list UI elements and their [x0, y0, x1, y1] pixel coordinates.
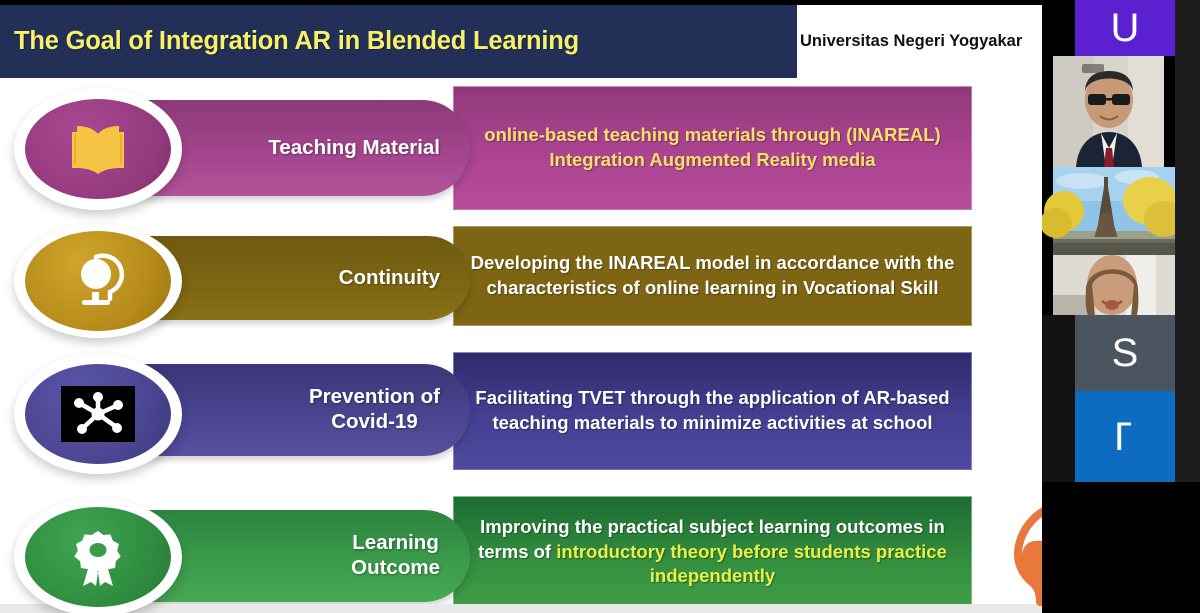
- goal-icon-badge: [14, 354, 182, 474]
- goal-description-text: Improving the practical subject learning…: [464, 515, 961, 589]
- participant-tile-s[interactable]: S: [1042, 315, 1175, 391]
- avatar-initial: S: [1112, 333, 1139, 373]
- goal-row: Improving the practical subject learning…: [0, 496, 1042, 613]
- right-gutter: [1175, 0, 1200, 613]
- globe-icon: [70, 252, 126, 310]
- goal-description-text: online-based teaching materials through …: [464, 123, 961, 172]
- goal-row: Developing the INAREAL model in accordan…: [0, 226, 1042, 336]
- organization-banner: Universitas Negeri Yogyakar: [797, 5, 1042, 78]
- goal-description-box: Improving the practical subject learning…: [453, 496, 972, 608]
- goal-icon-badge: [14, 498, 182, 613]
- goal-label-text: Continuity: [339, 266, 440, 291]
- goal-label-text: Teaching Material: [268, 136, 440, 161]
- participant-tile-u[interactable]: U: [1042, 0, 1175, 56]
- slide-title-bar: The Goal of Integration AR in Blended Le…: [0, 5, 797, 78]
- participant-tile-eiffel[interactable]: [1042, 167, 1175, 255]
- goal-label-text: Learning Outcome: [351, 531, 440, 580]
- tile-u-edge: [1168, 0, 1175, 56]
- participant-tile-man[interactable]: [1042, 56, 1175, 167]
- award-rosette-icon: [69, 527, 127, 587]
- goal-row: Facilitating TVET through the applicatio…: [0, 352, 1042, 480]
- avatar: S: [1075, 315, 1175, 391]
- meeting-screen: The Goal of Integration AR in Blended Le…: [0, 0, 1200, 613]
- molecule-network-icon: [61, 386, 135, 442]
- page-title: The Goal of Integration AR in Blended Le…: [14, 27, 579, 56]
- goal-description-box: Developing the INAREAL model in accordan…: [453, 226, 972, 326]
- goal-icon-badge: [14, 88, 182, 210]
- avatar-initial: U: [1111, 8, 1140, 48]
- tile-g-edge: [1131, 391, 1135, 482]
- goal-label-text: Prevention of Covid-19: [309, 385, 440, 434]
- participant-sidebar: U: [1042, 0, 1175, 613]
- empty-tile-area: [1042, 482, 1175, 613]
- shared-slide: The Goal of Integration AR in Blended Le…: [0, 0, 1042, 613]
- right-gutter-black: [1175, 482, 1200, 613]
- organization-name: Universitas Negeri Yogyakar: [797, 32, 1022, 51]
- goal-row: online-based teaching materials through …: [0, 86, 1042, 218]
- goal-description-box: online-based teaching materials through …: [453, 86, 972, 210]
- slide-bottom-bar: [0, 604, 1042, 613]
- open-book-icon: [67, 122, 129, 176]
- goal-description-box: Facilitating TVET through the applicatio…: [453, 352, 972, 470]
- goal-icon-badge: [14, 224, 182, 338]
- avatar: Г: [1075, 391, 1175, 482]
- head-brain-profile-icon: [1000, 498, 1042, 613]
- goal-description-text: Facilitating TVET through the applicatio…: [464, 386, 961, 435]
- avatar: U: [1075, 0, 1175, 56]
- participant-tile-g[interactable]: Г: [1042, 391, 1175, 482]
- goal-description-text: Developing the INAREAL model in accordan…: [464, 251, 961, 300]
